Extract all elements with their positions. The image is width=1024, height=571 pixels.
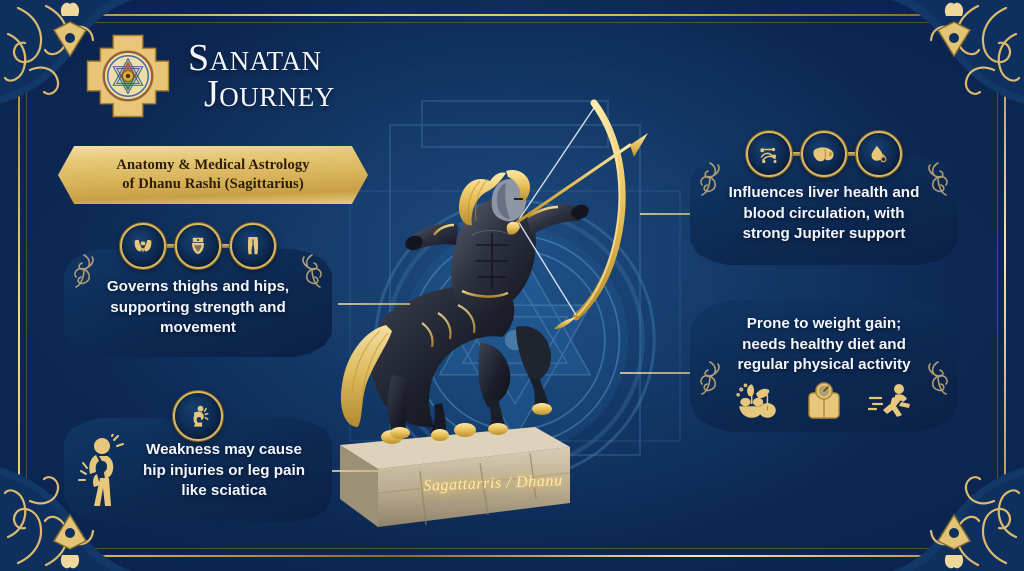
connector-left-top xyxy=(338,303,410,305)
card-icon-row xyxy=(725,378,923,424)
pelvis-bone-icon[interactable] xyxy=(120,223,166,269)
brand-line-2: Journey xyxy=(188,76,335,112)
center-artwork: Sagattarris / Dhanu xyxy=(330,75,700,545)
card-weight-gain[interactable]: Prone to weight gain; needs healthy diet… xyxy=(688,298,960,434)
corner-ornament-bottom-right xyxy=(892,439,1024,571)
running-person-icon[interactable] xyxy=(864,378,916,424)
card-text: Influences liver health and blood circul… xyxy=(690,183,958,245)
card-thighs-hips[interactable]: Governs thighs and hips, supporting stre… xyxy=(62,247,334,359)
liver-icon[interactable] xyxy=(801,131,847,177)
card-icon-row xyxy=(746,131,902,177)
connector-left-bottom xyxy=(330,470,392,472)
card-hip-injuries[interactable]: Weakness may cause hip injuries or leg p… xyxy=(62,416,334,524)
title-line-2: of Dhanu Rashi (Sagittarius) xyxy=(116,175,309,194)
title-line-1: Anatomy & Medical Astrology xyxy=(116,156,309,175)
centaur-horse-body xyxy=(341,285,552,441)
card-plate: Prone to weight gain; needs healthy diet… xyxy=(688,298,960,434)
title-banner: Anatomy & Medical Astrology of Dhanu Ras… xyxy=(58,146,368,204)
card-text: Governs thighs and hips, supporting stre… xyxy=(64,277,332,339)
blood-drop-icon[interactable] xyxy=(856,131,902,177)
brand-wordmark: Sanatan Journey xyxy=(188,40,335,113)
weight-scale-icon[interactable] xyxy=(798,378,850,424)
card-text: Prone to weight gain; needs healthy diet… xyxy=(690,314,958,376)
brand-line-1: Sanatan xyxy=(188,40,335,76)
back-pain-person-icon[interactable] xyxy=(173,391,223,441)
blood-vessel-circulation-icon[interactable] xyxy=(746,131,792,177)
card-icon-row xyxy=(173,391,223,441)
thighs-legs-icon[interactable] xyxy=(230,223,276,269)
hips-waist-icon[interactable] xyxy=(175,223,221,269)
brand-header: Sanatan Journey xyxy=(82,30,335,122)
healthy-food-icon[interactable] xyxy=(732,378,784,424)
card-icon-row xyxy=(120,223,276,269)
corner-ornament-top-right xyxy=(892,0,1024,132)
card-liver-circulation[interactable]: Influences liver health and blood circul… xyxy=(688,155,960,267)
infographic-canvas: Sagattarris / Dhanu Sanatan Journey xyxy=(0,0,1024,571)
sri-yantra-icon xyxy=(82,30,174,122)
hip-pain-person-icon xyxy=(76,434,132,510)
